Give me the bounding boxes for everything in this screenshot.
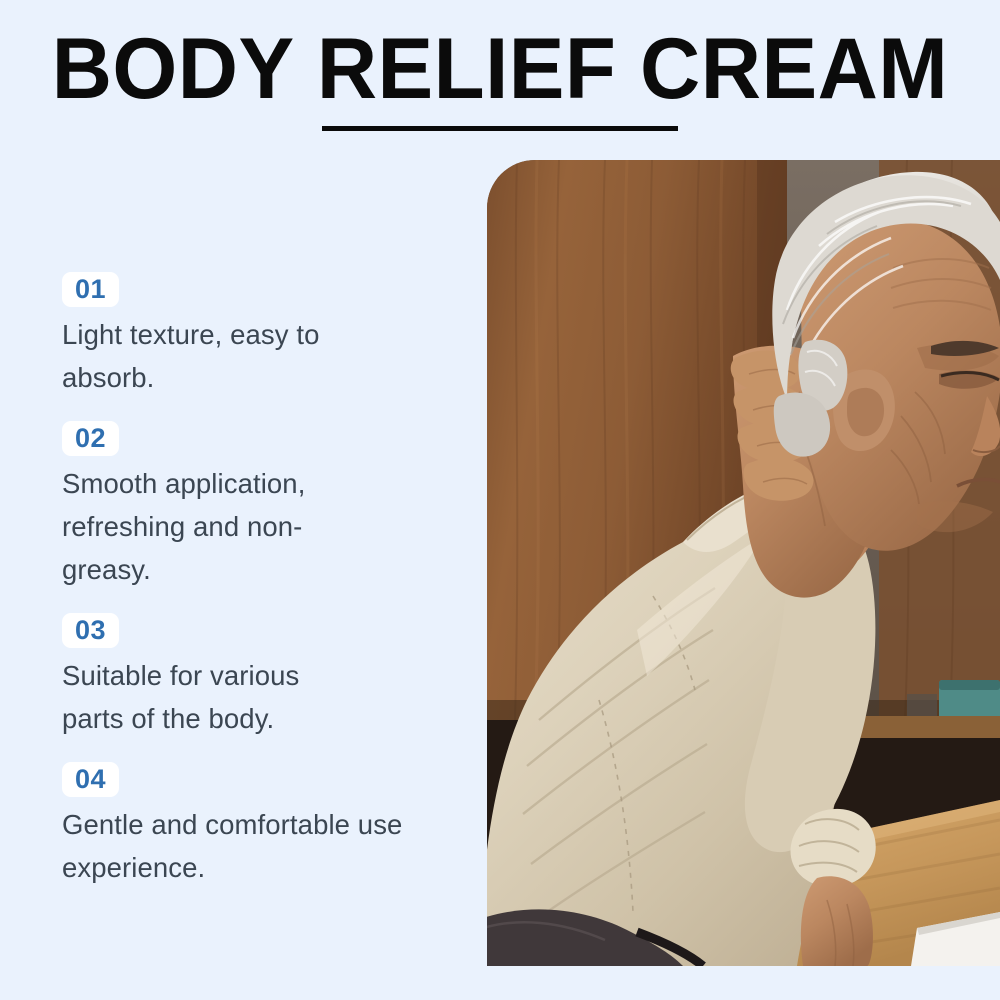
feature-number-badge: 02 — [62, 421, 119, 456]
feature-number-badge: 04 — [62, 762, 119, 797]
feature-description: Gentle and comfortable use experience. — [62, 803, 422, 889]
page-title: BODY RELIEF CREAM — [15, 22, 985, 116]
feature-description: Suitable for various parts of the body. — [62, 654, 362, 740]
product-photo — [487, 160, 1000, 966]
senior-man-neck-pain-illustration — [487, 160, 1000, 966]
bottom-background-strip — [0, 966, 1000, 1000]
list-item: 03 Suitable for various parts of the bod… — [62, 613, 462, 740]
feature-description: Smooth application, refreshing and non-g… — [62, 462, 382, 591]
infographic-poster: BODY RELIEF CREAM 01 Light texture, easy… — [0, 0, 1000, 1000]
list-item: 01 Light texture, easy to absorb. — [62, 272, 462, 399]
title-underline-rule — [322, 126, 678, 131]
list-item: 04 Gentle and comfortable use experience… — [62, 762, 462, 889]
feature-number-badge: 03 — [62, 613, 119, 648]
feature-list: 01 Light texture, easy to absorb. 02 Smo… — [62, 272, 462, 911]
feature-number-badge: 01 — [62, 272, 119, 307]
list-item: 02 Smooth application, refreshing and no… — [62, 421, 462, 591]
feature-description: Light texture, easy to absorb. — [62, 313, 392, 399]
